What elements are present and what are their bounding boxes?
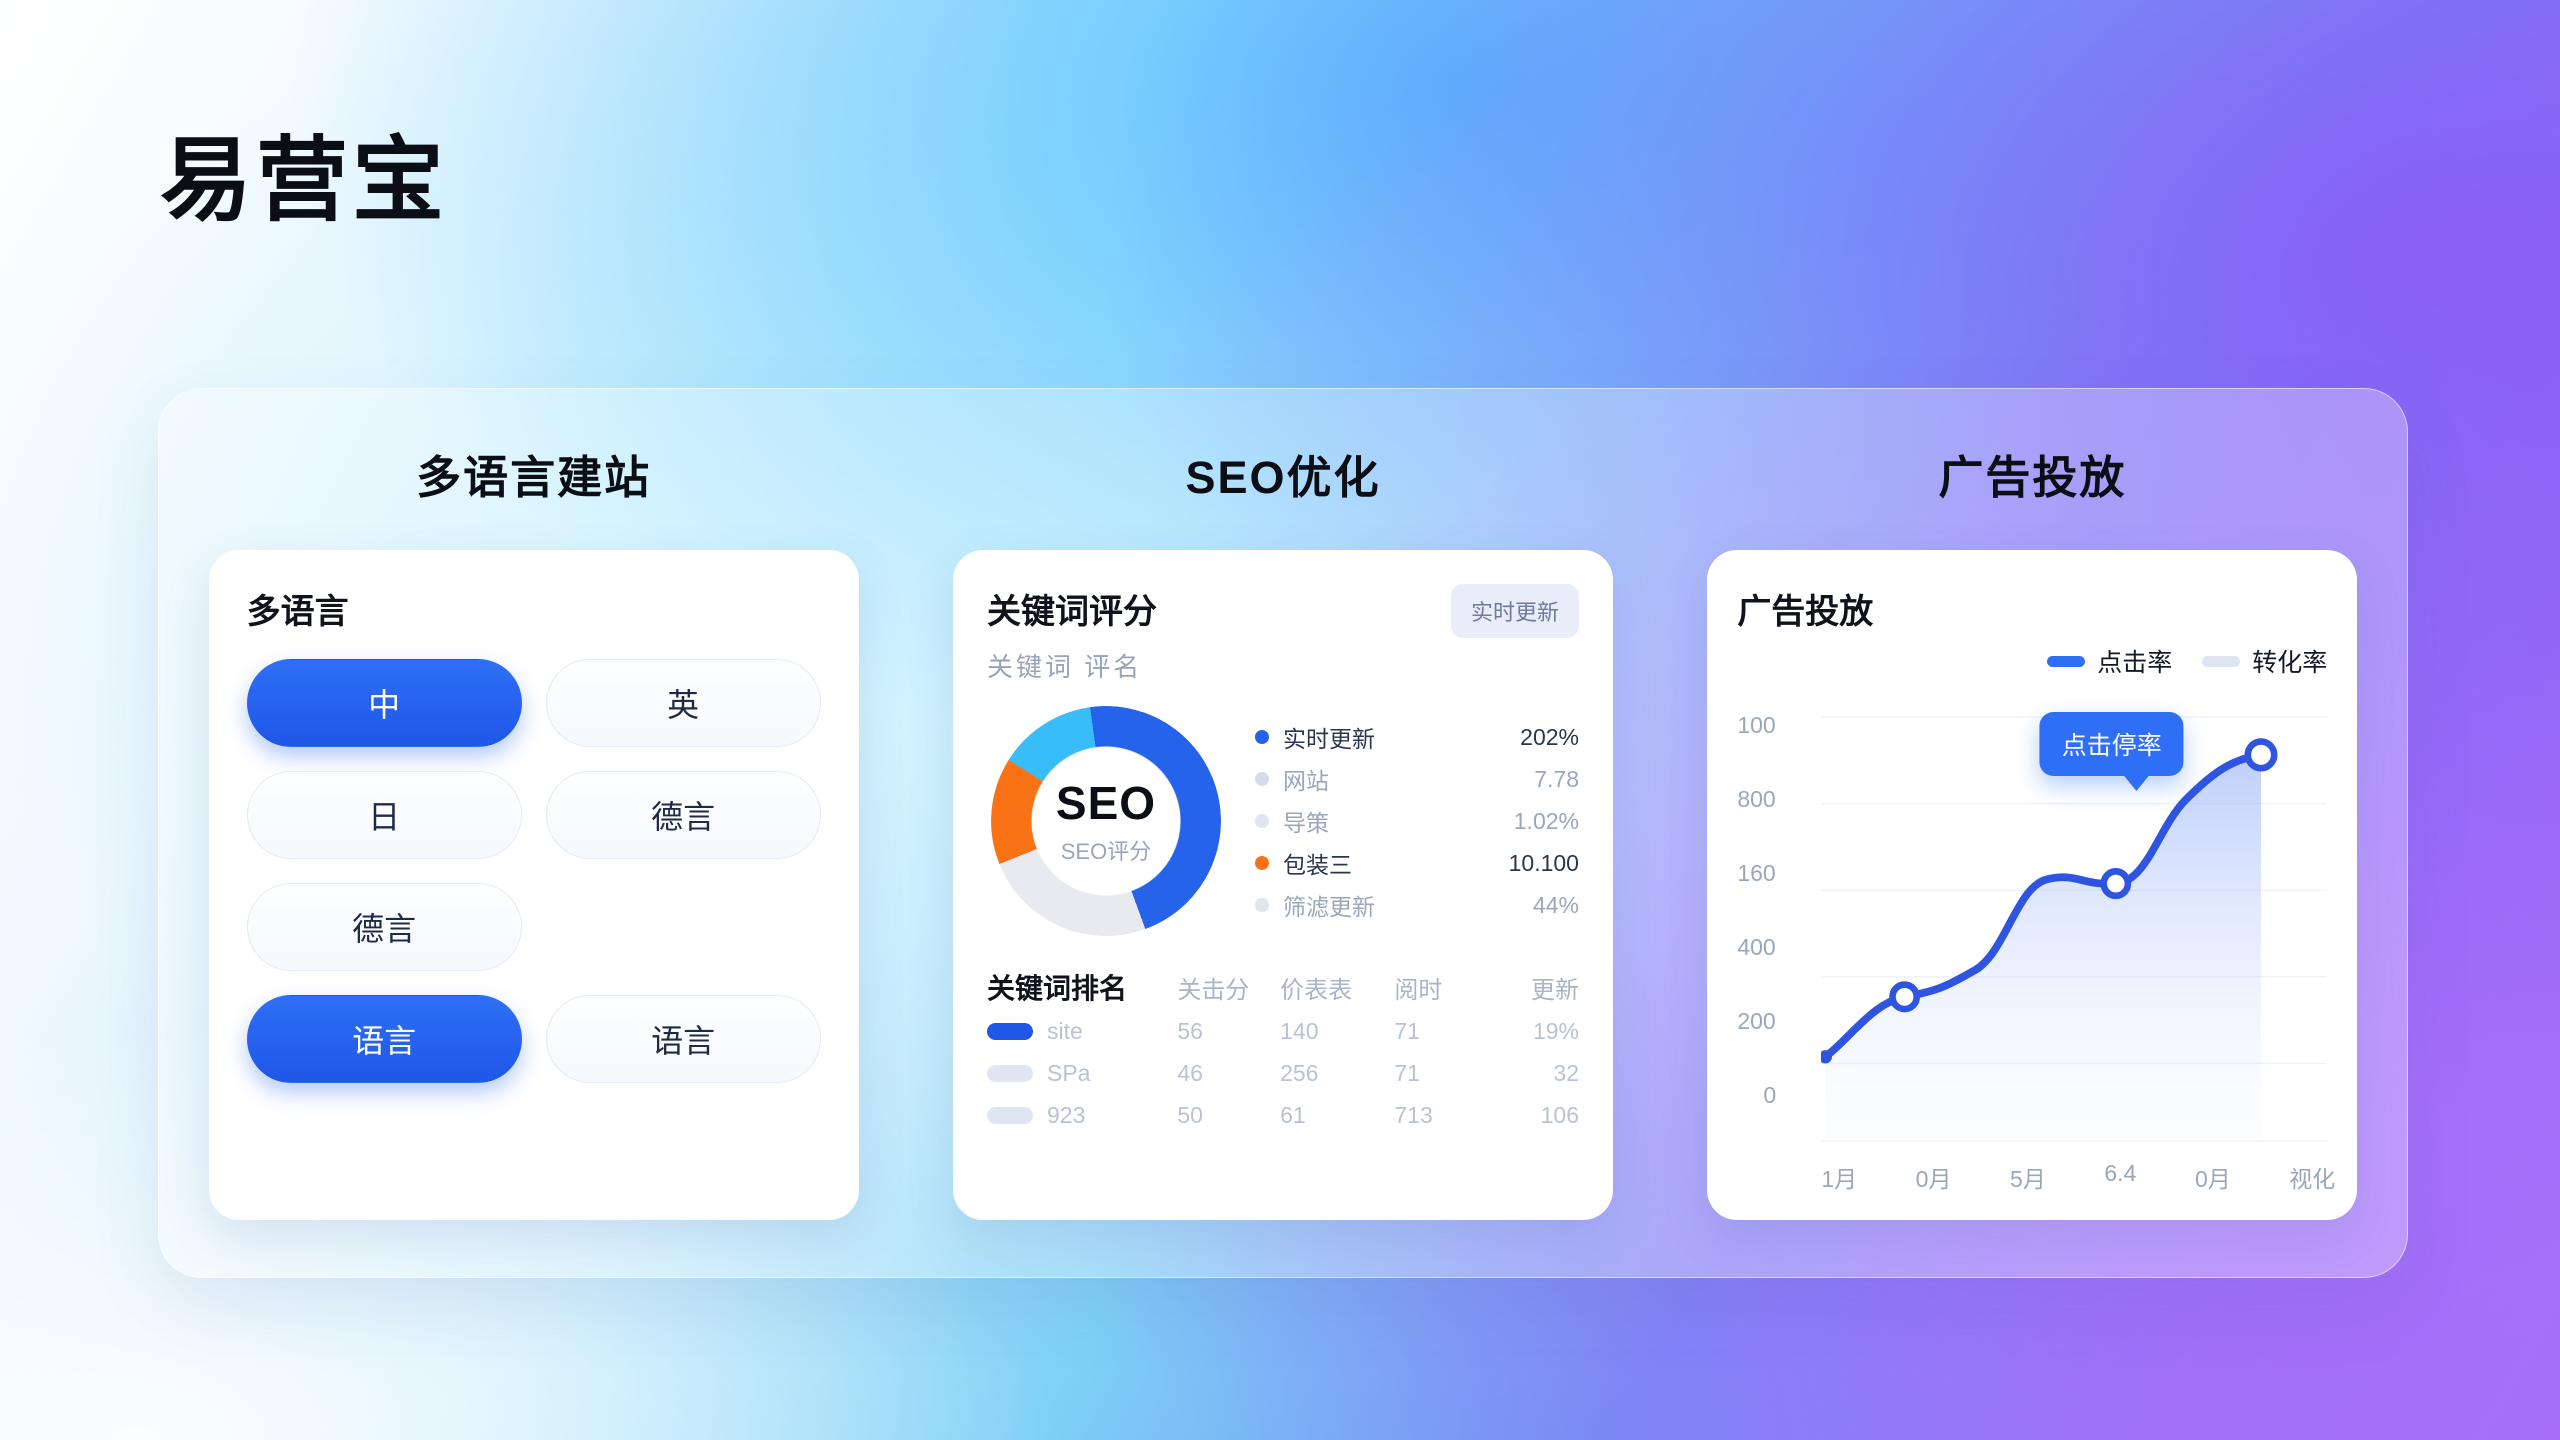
legend-item-clicks[interactable]: 点击率 bbox=[2047, 643, 2172, 679]
table-header-cell: 关键词排名 bbox=[987, 967, 1177, 1007]
language-button-de2[interactable]: 德言 bbox=[247, 883, 522, 971]
ads-card: 广告投放 点击率 转化率 100 800 160 400 200 0 bbox=[1707, 550, 2357, 1220]
ads-chart-legend: 点击率 转化率 bbox=[1737, 643, 2327, 679]
language-button-placeholder bbox=[546, 883, 821, 971]
table-cell: 140 bbox=[1280, 1018, 1318, 1044]
language-button-en[interactable]: 英 bbox=[546, 659, 821, 747]
legend-value: 202% bbox=[1520, 724, 1579, 751]
table-cell: 106 bbox=[1541, 1102, 1579, 1128]
table-cell-name: site bbox=[1047, 1018, 1083, 1045]
seo-donut-chart: SEO SEO评分 bbox=[991, 706, 1221, 936]
table-row[interactable]: 923 50 61 713 106 bbox=[987, 1094, 1579, 1136]
legend-row: 网站 7.78 bbox=[1255, 758, 1579, 800]
table-cell: 46 bbox=[1177, 1060, 1203, 1086]
language-button-lang[interactable]: 语言 bbox=[546, 995, 821, 1083]
language-button-grid: 中 英 日 德言 德言 语言 语言 bbox=[247, 659, 821, 1083]
donut-center-subtitle: SEO评分 bbox=[1061, 834, 1151, 866]
table-cell: 71 bbox=[1394, 1018, 1420, 1044]
table-cell: 61 bbox=[1280, 1102, 1306, 1128]
x-axis-tick: 0月 bbox=[1916, 1160, 1952, 1194]
x-axis-labels: 1月 0月 5月 6.4 0月 视化 bbox=[1821, 1160, 2335, 1194]
legend-bar-icon bbox=[2047, 656, 2085, 667]
section-multilingual: 多语言建站 多语言 中 英 日 德言 德言 语言 语言 bbox=[159, 389, 908, 1277]
table-header-cell: 更新 bbox=[1493, 970, 1579, 1005]
chart-area-fill bbox=[1826, 755, 2262, 1141]
ads-line-chart: 100 800 160 400 200 0 bbox=[1737, 700, 2335, 1194]
legend-item-conversion[interactable]: 转化率 bbox=[2202, 643, 2327, 679]
section-ads: 广告投放 广告投放 点击率 转化率 100 800 160 400 200 0 bbox=[1658, 389, 2407, 1277]
realtime-update-badge[interactable]: 实时更新 bbox=[1451, 584, 1579, 638]
y-axis-tick: 160 bbox=[1737, 860, 1775, 887]
language-button-zh[interactable]: 中 bbox=[247, 659, 522, 747]
x-axis-tick: 1月 bbox=[1821, 1160, 1857, 1194]
language-button-de[interactable]: 德言 bbox=[546, 771, 821, 859]
language-button-lang-active[interactable]: 语言 bbox=[247, 995, 522, 1083]
chart-point-marker bbox=[1893, 985, 1917, 1009]
legend-label: 筛滤更新 bbox=[1283, 888, 1533, 922]
legend-label: 网站 bbox=[1283, 762, 1534, 796]
seo-card-heading: 关键词评分 bbox=[987, 584, 1157, 633]
row-color-pill-icon bbox=[987, 1023, 1033, 1040]
feature-panel: 多语言建站 多语言 中 英 日 德言 德言 语言 语言 SEO优化 关键词评分 … bbox=[158, 388, 2408, 1278]
x-axis-tick: 6.4 bbox=[2104, 1160, 2136, 1194]
seo-card-subtitle: 关键词 评名 bbox=[987, 647, 1157, 684]
legend-value: 44% bbox=[1533, 892, 1579, 919]
row-color-pill-icon bbox=[987, 1107, 1033, 1124]
chart-point-marker bbox=[2248, 742, 2274, 769]
table-row[interactable]: site 56 140 71 19% bbox=[987, 1010, 1579, 1052]
legend-dot-icon bbox=[1255, 856, 1269, 870]
legend-value: 10.100 bbox=[1509, 850, 1579, 877]
page-title: 易营宝 bbox=[160, 135, 448, 227]
legend-dot-icon bbox=[1255, 814, 1269, 828]
legend-label: 转化率 bbox=[2252, 643, 2327, 679]
y-axis-tick: 0 bbox=[1763, 1082, 1776, 1109]
legend-value: 1.02% bbox=[1514, 808, 1579, 835]
table-row[interactable]: SPa 46 256 71 32 bbox=[987, 1052, 1579, 1094]
chart-point-marker bbox=[2104, 871, 2128, 895]
table-cell: 713 bbox=[1394, 1102, 1432, 1128]
multilingual-card-heading: 多语言 bbox=[247, 584, 821, 633]
table-cell-name: 923 bbox=[1047, 1102, 1085, 1129]
chart-tooltip: 点击停率 bbox=[2040, 712, 2184, 776]
ads-card-heading: 广告投放 bbox=[1737, 584, 2327, 633]
x-axis-tick: 5月 bbox=[2010, 1160, 2046, 1194]
legend-row: 导策 1.02% bbox=[1255, 800, 1579, 842]
legend-row: 筛滤更新 44% bbox=[1255, 884, 1579, 926]
table-header-cell: 价表表 bbox=[1280, 970, 1394, 1005]
table-cell: 56 bbox=[1177, 1018, 1203, 1044]
table-header-cell: 关击分 bbox=[1177, 970, 1280, 1005]
legend-value: 7.78 bbox=[1534, 766, 1579, 793]
legend-dot-icon bbox=[1255, 730, 1269, 744]
seo-card-header: 关键词评分 关键词 评名 实时更新 bbox=[987, 584, 1579, 684]
legend-label: 包装三 bbox=[1283, 846, 1509, 880]
x-axis-tick: 0月 bbox=[2195, 1160, 2231, 1194]
legend-bar-icon bbox=[2202, 656, 2240, 667]
table-header-cell: 阅时 bbox=[1394, 970, 1493, 1005]
table-header-row: 关键词排名 关击分 价表表 阅时 更新 bbox=[987, 964, 1579, 1010]
x-axis-tick: 视化 bbox=[2289, 1160, 2335, 1194]
legend-dot-icon bbox=[1255, 898, 1269, 912]
language-button-ja[interactable]: 日 bbox=[247, 771, 522, 859]
legend-row: 实时更新 202% bbox=[1255, 716, 1579, 758]
legend-label: 点击率 bbox=[2097, 643, 2172, 679]
legend-label: 实时更新 bbox=[1283, 720, 1520, 754]
table-cell: 71 bbox=[1394, 1060, 1420, 1086]
row-color-pill-icon bbox=[987, 1065, 1033, 1082]
seo-score-section: SEO SEO评分 实时更新 202% 网站 7.78 bbox=[987, 706, 1579, 936]
y-axis-tick: 400 bbox=[1737, 934, 1775, 961]
seo-legend: 实时更新 202% 网站 7.78 导策 1.02% bbox=[1255, 716, 1579, 926]
chart-plot-area: 点击停率 bbox=[1821, 706, 2327, 1150]
y-axis-tick: 200 bbox=[1737, 1008, 1775, 1035]
legend-label: 导策 bbox=[1283, 804, 1514, 838]
table-cell: 256 bbox=[1280, 1060, 1318, 1086]
section-title-ads: 广告投放 bbox=[1938, 441, 2126, 506]
table-cell-name: SPa bbox=[1047, 1060, 1090, 1087]
donut-center-title: SEO bbox=[1056, 776, 1156, 830]
seo-card: 关键词评分 关键词 评名 实时更新 SEO SEO评分 实时更新 bbox=[953, 550, 1613, 1220]
table-cell: 50 bbox=[1177, 1102, 1203, 1128]
multilingual-card: 多语言 中 英 日 德言 德言 语言 语言 bbox=[209, 550, 859, 1220]
section-title-multilingual: 多语言建站 bbox=[416, 441, 651, 506]
y-axis-tick: 800 bbox=[1737, 786, 1775, 813]
legend-row: 包装三 10.100 bbox=[1255, 842, 1579, 884]
table-cell: 32 bbox=[1553, 1060, 1579, 1086]
table-cell: 19% bbox=[1533, 1018, 1579, 1044]
donut-center-label: SEO SEO评分 bbox=[991, 706, 1221, 936]
legend-dot-icon bbox=[1255, 772, 1269, 786]
keyword-rank-table: 关键词排名 关击分 价表表 阅时 更新 site 56 140 71 19% S… bbox=[987, 964, 1579, 1136]
y-axis-tick: 100 bbox=[1737, 712, 1775, 739]
section-title-seo: SEO优化 bbox=[1185, 441, 1380, 506]
section-seo: SEO优化 关键词评分 关键词 评名 实时更新 SEO SEO评分 bbox=[908, 389, 1657, 1277]
